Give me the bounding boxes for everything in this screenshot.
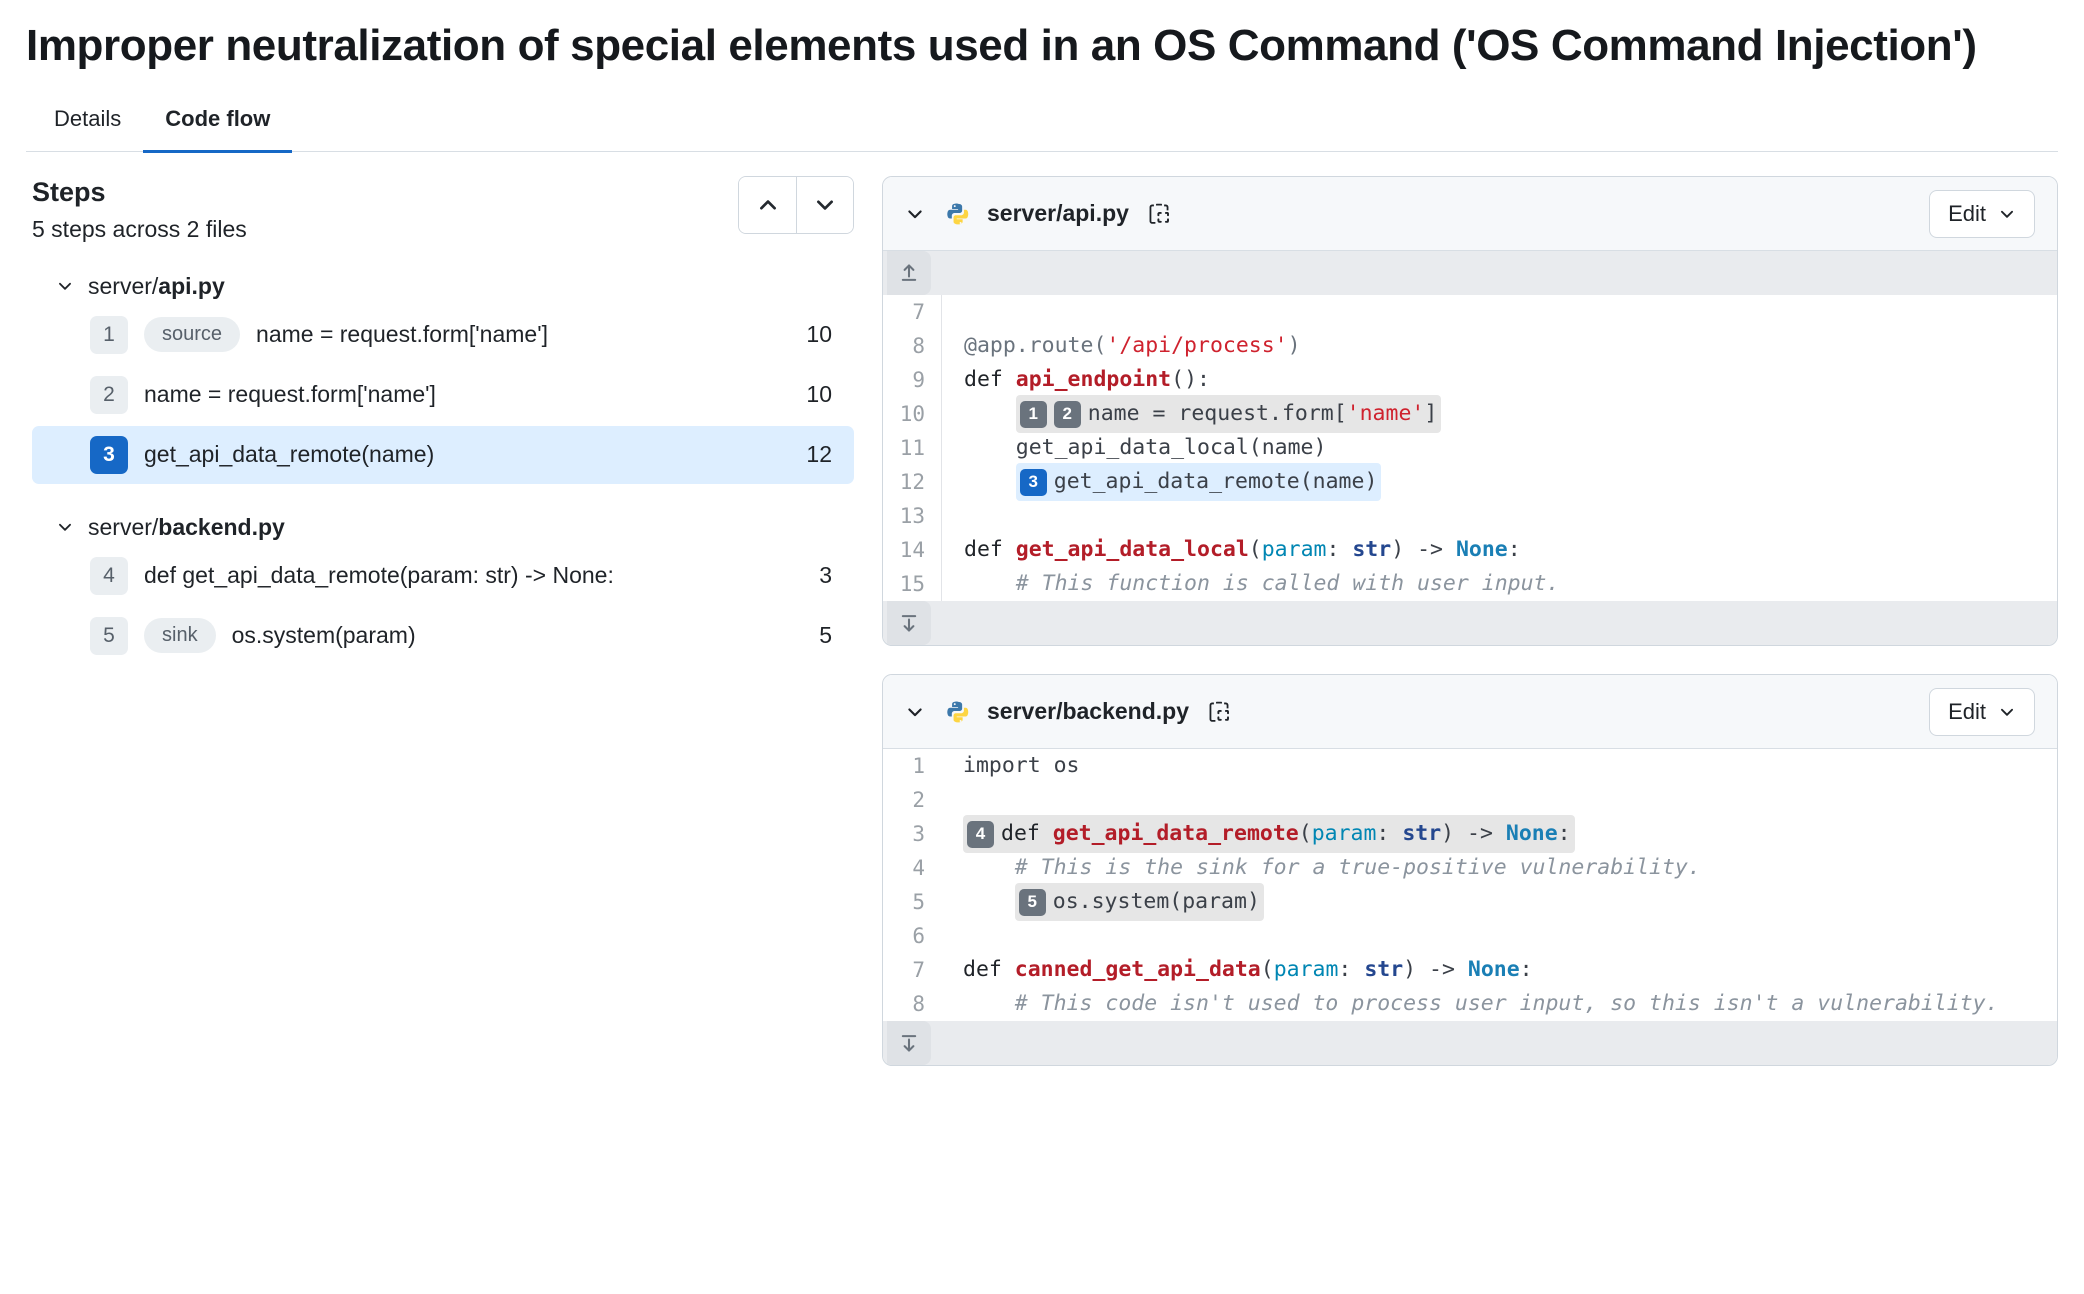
code-line: 6 xyxy=(883,919,2057,953)
tab-details[interactable]: Details xyxy=(32,98,143,153)
step-text: def get_api_data_remote(param: str) -> N… xyxy=(144,562,614,589)
code-line: 7 xyxy=(883,295,2057,329)
tab-code-flow[interactable]: Code flow xyxy=(143,98,292,153)
code-line: 8 # This code isn't used to process user… xyxy=(883,987,2057,1021)
line-content: # This is the sink for a true-positive v… xyxy=(941,851,2057,885)
line-content xyxy=(941,919,2057,953)
code-line: 10 12name = request.form['name'] xyxy=(883,397,2057,431)
line-number: 9 xyxy=(883,363,941,397)
line-number: 3 xyxy=(883,817,941,851)
jump-to-top-button[interactable] xyxy=(887,251,931,295)
line-number: 7 xyxy=(883,295,941,329)
page-title: Improper neutralization of special eleme… xyxy=(26,18,2016,74)
step-tag-sink: sink xyxy=(144,618,216,653)
line-number: 8 xyxy=(883,987,941,1021)
line-content: 12name = request.form['name'] xyxy=(941,397,2057,431)
previous-step-button[interactable] xyxy=(739,177,796,233)
line-number: 7 xyxy=(883,953,941,987)
line-number: 14 xyxy=(883,533,941,567)
line-content: import os xyxy=(941,749,2057,783)
code-line: 8@app.route('/api/process') xyxy=(883,329,2057,363)
edit-button-label: Edit xyxy=(1948,201,1986,227)
code-line: 14def get_api_data_local(param: str) -> … xyxy=(883,533,2057,567)
code-line: 1import os xyxy=(883,749,2057,783)
line-content: 3get_api_data_remote(name) xyxy=(941,465,2057,499)
code-panel-backend: server/backend.py Edit xyxy=(882,674,2058,1066)
line-content: # This code isn't used to process user i… xyxy=(941,987,2057,1021)
edit-button[interactable]: Edit xyxy=(1929,190,2035,238)
step-index: 3 xyxy=(90,436,128,474)
step-text: name = request.form['name'] xyxy=(144,381,436,408)
chevron-down-icon xyxy=(56,518,74,536)
step-file-header-api[interactable]: server/api.py xyxy=(32,269,854,304)
line-number: 8 xyxy=(883,329,941,363)
line-number: 4 xyxy=(883,851,941,885)
step-text: os.system(param) xyxy=(232,622,416,649)
step-text: name = request.form['name'] xyxy=(256,321,548,348)
step-file-header-backend[interactable]: server/backend.py xyxy=(32,510,854,545)
scroll-down-bar xyxy=(883,1021,2057,1065)
line-number: 15 xyxy=(883,567,941,601)
chevron-down-icon xyxy=(814,194,836,216)
code-body-backend: 1import os 2 34def get_api_data_remote(p… xyxy=(883,749,2057,1021)
line-content: get_api_data_local(name) xyxy=(941,431,2057,465)
tab-bar: Details Code flow xyxy=(26,98,2058,152)
line-content: def api_endpoint(): xyxy=(941,363,2057,397)
code-line: 12 3get_api_data_remote(name) xyxy=(883,465,2057,499)
code-line: 7def canned_get_api_data(param: str) -> … xyxy=(883,953,2057,987)
python-file-icon xyxy=(945,201,971,227)
code-panel-header: server/backend.py Edit xyxy=(883,675,2057,749)
steps-panel: Steps 5 steps across 2 files xyxy=(26,176,854,664)
copy-path-icon[interactable] xyxy=(1147,202,1171,226)
page-root: Improper neutralization of special eleme… xyxy=(0,18,2084,1094)
copy-path-icon[interactable] xyxy=(1207,700,1231,724)
line-number: 10 xyxy=(883,397,941,431)
jump-to-bottom-button[interactable] xyxy=(887,601,931,645)
step-file-group: server/api.py 1 source name = request.fo… xyxy=(32,269,854,484)
step-file-group: server/backend.py 4 def get_api_data_rem… xyxy=(32,510,854,665)
jump-to-bottom-button[interactable] xyxy=(887,1021,931,1065)
step-index: 4 xyxy=(90,557,128,595)
edit-button[interactable]: Edit xyxy=(1929,688,2035,736)
code-line: 13 xyxy=(883,499,2057,533)
line-content xyxy=(941,499,2057,533)
step-row[interactable]: 5 sink os.system(param) 5 xyxy=(32,607,854,665)
chevron-down-icon[interactable] xyxy=(905,204,925,224)
chevron-down-icon xyxy=(1998,703,2016,721)
step-line-number: 3 xyxy=(799,562,832,589)
steps-subtitle: 5 steps across 2 files xyxy=(32,216,247,243)
step-nav-buttons xyxy=(738,176,854,234)
step-index: 2 xyxy=(90,376,128,414)
code-panel-header: server/api.py Edit xyxy=(883,177,2057,251)
code-line: 5 5os.system(param) xyxy=(883,885,2057,919)
chevron-down-icon xyxy=(56,277,74,295)
step-row-selected[interactable]: 3 get_api_data_remote(name) 12 xyxy=(32,426,854,484)
steps-title: Steps xyxy=(32,176,247,208)
code-line: 11 get_api_data_local(name) xyxy=(883,431,2057,465)
chevron-down-icon[interactable] xyxy=(905,702,925,722)
line-number: 12 xyxy=(883,465,941,499)
line-number: 11 xyxy=(883,431,941,465)
chevron-down-icon xyxy=(1998,205,2016,223)
code-panel-api: server/api.py Edit xyxy=(882,176,2058,646)
code-panel-filename: server/backend.py xyxy=(987,698,1189,725)
steps-header: Steps 5 steps across 2 files xyxy=(32,176,854,242)
code-line: 15 # This function is called with user i… xyxy=(883,567,2057,601)
step-index: 1 xyxy=(90,316,128,354)
step-text: get_api_data_remote(name) xyxy=(144,441,434,468)
step-file-path: server/api.py xyxy=(88,273,225,300)
step-row[interactable]: 4 def get_api_data_remote(param: str) ->… xyxy=(32,547,854,605)
line-content: def get_api_data_local(param: str) -> No… xyxy=(941,533,2057,567)
line-content: 5os.system(param) xyxy=(941,885,2057,919)
line-content xyxy=(941,783,2057,817)
line-content: # This function is called with user inpu… xyxy=(941,567,2057,601)
step-index: 5 xyxy=(90,617,128,655)
code-panels: server/api.py Edit xyxy=(854,176,2058,1094)
step-line-number: 12 xyxy=(786,441,832,468)
line-number: 6 xyxy=(883,919,941,953)
scroll-down-bar xyxy=(883,601,2057,645)
line-content: 4def get_api_data_remote(param: str) -> … xyxy=(941,817,2057,851)
line-number: 2 xyxy=(883,783,941,817)
line-number: 1 xyxy=(883,749,941,783)
line-number: 5 xyxy=(883,885,941,919)
line-content: @app.route('/api/process') xyxy=(941,329,2057,363)
python-file-icon xyxy=(945,699,971,725)
step-line-number: 10 xyxy=(786,381,832,408)
code-line: 4 # This is the sink for a true-positive… xyxy=(883,851,2057,885)
step-row[interactable]: 1 source name = request.form['name'] 10 xyxy=(32,306,854,364)
line-number: 13 xyxy=(883,499,941,533)
step-row[interactable]: 2 name = request.form['name'] 10 xyxy=(32,366,854,424)
next-step-button[interactable] xyxy=(796,177,853,233)
arrow-down-to-line-icon xyxy=(898,612,920,634)
line-content: def canned_get_api_data(param: str) -> N… xyxy=(941,953,2057,987)
step-file-path: server/backend.py xyxy=(88,514,285,541)
arrow-up-to-line-icon xyxy=(898,262,920,284)
step-tag-source: source xyxy=(144,317,240,352)
code-body-api: 7 8@app.route('/api/process') 9def api_e… xyxy=(883,295,2057,601)
main-content: Steps 5 steps across 2 files xyxy=(26,176,2058,1094)
step-line-number: 5 xyxy=(799,622,832,649)
edit-button-label: Edit xyxy=(1948,699,1986,725)
code-line: 34def get_api_data_remote(param: str) ->… xyxy=(883,817,2057,851)
line-content xyxy=(941,295,2057,329)
code-line: 9def api_endpoint(): xyxy=(883,363,2057,397)
chevron-up-icon xyxy=(757,194,779,216)
step-line-number: 10 xyxy=(786,321,832,348)
scroll-up-bar xyxy=(883,251,2057,295)
arrow-down-to-line-icon xyxy=(898,1032,920,1054)
code-panel-filename: server/api.py xyxy=(987,200,1129,227)
code-line: 2 xyxy=(883,783,2057,817)
